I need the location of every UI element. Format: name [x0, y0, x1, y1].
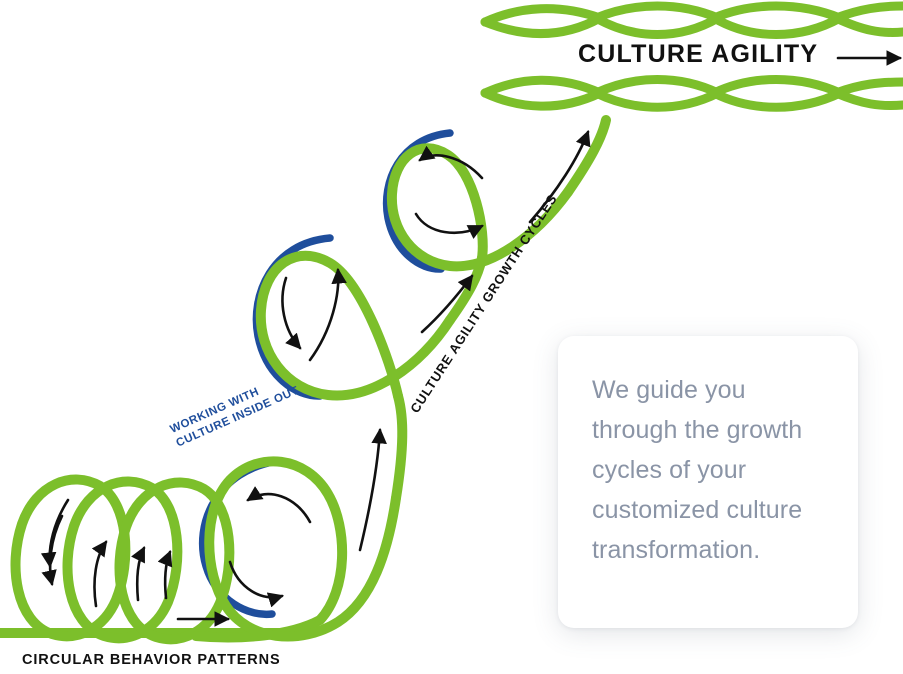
coil-arrow-down-2: [50, 500, 68, 566]
diagram-canvas: CULTURE AGILITY CIRCULAR BEHAVIOR PATTER…: [0, 0, 903, 674]
loop1-arrow-bottom: [230, 562, 282, 597]
loop3-arrow-left: [420, 155, 482, 178]
coil-arrow-up-3: [165, 552, 170, 598]
page-title: CULTURE AGILITY: [578, 42, 818, 67]
loop3-arrow-right: [416, 214, 482, 233]
quote-card: We guide you through the growth cycles o…: [558, 336, 858, 628]
rise-arrow-1: [360, 430, 380, 550]
coil-arrow-up-1: [94, 542, 106, 606]
coil-arrow-up-2: [137, 548, 144, 600]
loop2-arrow-up: [310, 270, 338, 360]
loop2-arrow-down: [282, 278, 300, 348]
loop1-arrow-top: [248, 494, 310, 522]
label-circular-behavior-patterns: CIRCULAR BEHAVIOR PATTERNS: [22, 653, 281, 668]
quote-text: We guide you through the growth cycles o…: [592, 370, 828, 570]
